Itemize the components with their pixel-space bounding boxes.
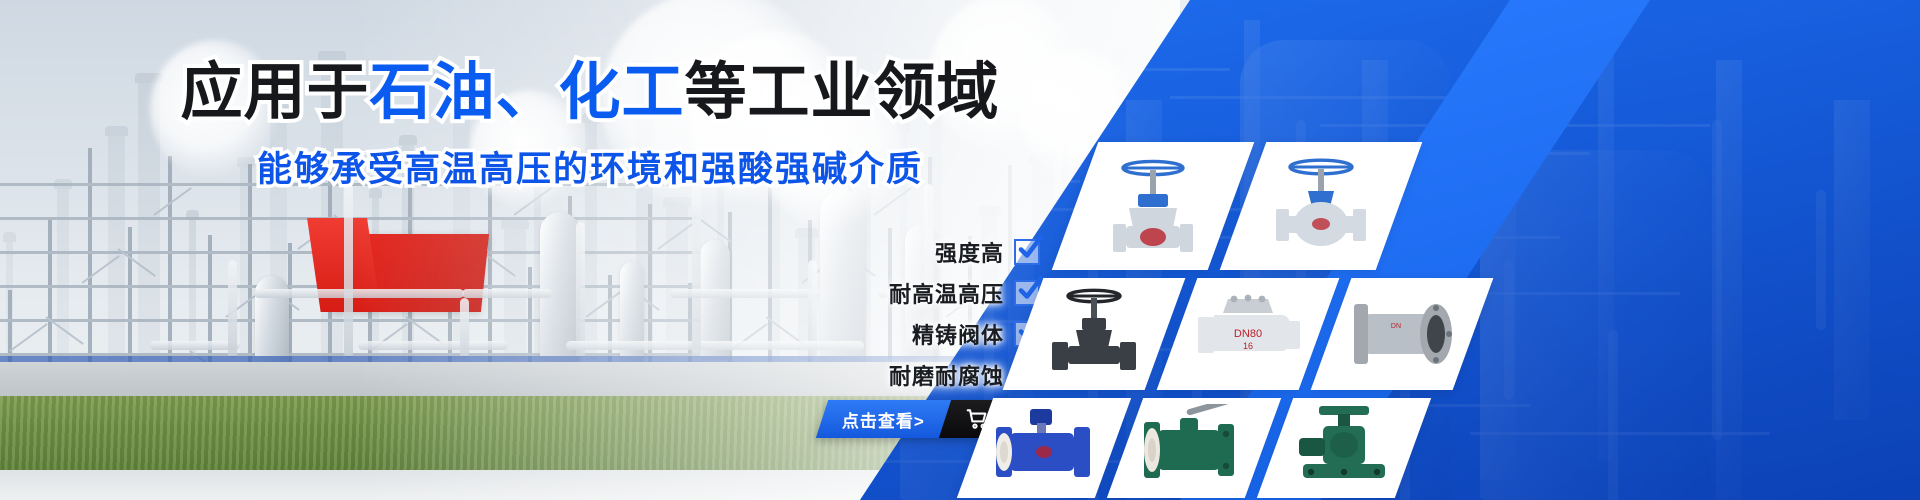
swing-check-valve-image: DN8016	[1177, 278, 1319, 390]
cta-label-area[interactable]: 点击查看>	[816, 400, 951, 438]
globe-valve-flanged-image	[1243, 142, 1399, 270]
flanged-valve-green-image	[1275, 398, 1413, 498]
feature-checklist: 强度高耐高温高压精铸阀体耐磨耐腐蚀	[660, 236, 1040, 391]
product-cell-flanged-valve-green[interactable]	[1257, 398, 1431, 498]
headline-block: 应用于石油、化工等工业领域 能够承受高温高压的环境和强酸强碱介质	[0, 60, 1180, 192]
product-cell-swing-check-valve[interactable]: DN8016	[1157, 278, 1340, 390]
gate-valve-handwheel-image	[1075, 142, 1231, 270]
product-cell-lever-ball-valve-green[interactable]	[1107, 398, 1281, 498]
lever-ball-valve-green-image	[1125, 398, 1263, 498]
feature-label: 强度高	[935, 236, 1004, 268]
svg-text:DN80: DN80	[1234, 328, 1262, 340]
promo-banner: 应用于石油、化工等工业领域 能够承受高温高压的环境和强酸强碱介质 强度高耐高温高…	[0, 0, 1920, 500]
svg-text:DN: DN	[1391, 323, 1401, 330]
feature-label: 耐磨耐腐蚀	[889, 359, 1004, 391]
product-cell-gate-valve-handwheel[interactable]	[1052, 142, 1255, 270]
forged-steel-gate-valve-image	[1023, 278, 1165, 390]
product-grid: DN8016DN	[1015, 0, 1655, 500]
lined-ball-valve-blue-image	[975, 398, 1113, 498]
headline-suffix: 等工业领域	[685, 58, 1000, 127]
headline-highlight: 石油、化工	[369, 58, 684, 127]
svg-text:16: 16	[1243, 341, 1253, 351]
product-cell-steel-flanged-valve[interactable]: DN	[1311, 278, 1494, 390]
headline-prefix: 应用于	[180, 58, 369, 127]
page-subtitle: 能够承受高温高压的环境和强酸强碱介质	[0, 141, 1180, 192]
product-cell-globe-valve-flanged[interactable]	[1220, 142, 1423, 270]
steel-flanged-valve-image: DN	[1331, 278, 1473, 390]
feature-label: 精铸阀体	[912, 318, 1004, 350]
cta-label: 点击查看>	[842, 407, 925, 432]
feature-label: 耐高温高压	[889, 277, 1004, 309]
product-cell-forged-steel-gate-valve[interactable]	[1003, 278, 1186, 390]
page-title: 应用于石油、化工等工业领域	[0, 60, 1180, 125]
